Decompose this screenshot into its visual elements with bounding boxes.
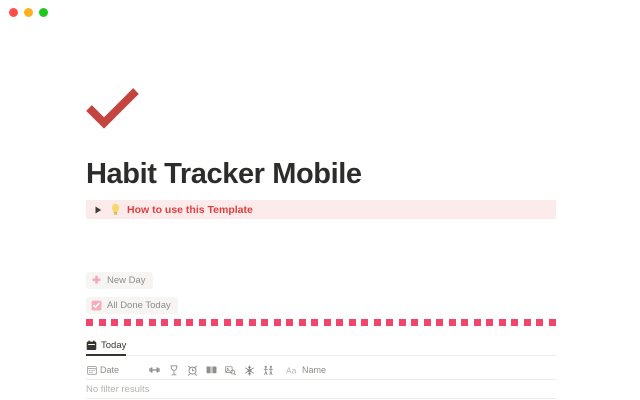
- divider-dot: [324, 319, 331, 326]
- column-open-book[interactable]: [206, 361, 225, 379]
- new-day-button[interactable]: New Day: [86, 272, 153, 289]
- database-view-tabs: Today: [86, 336, 556, 356]
- divider-dot: [336, 319, 343, 326]
- column-name-label: Name: [302, 365, 326, 375]
- divider-dot: [136, 319, 143, 326]
- divider-dot: [386, 319, 393, 326]
- column-photo-search[interactable]: [225, 361, 244, 379]
- divider-dot: [524, 319, 531, 326]
- divider-dot: [286, 319, 293, 326]
- divider-dot: [374, 319, 381, 326]
- divider-dot: [199, 319, 206, 326]
- column-snowflake[interactable]: [244, 361, 263, 379]
- lightbulb-emoji-icon: [108, 203, 123, 216]
- column-wine-glass[interactable]: [168, 361, 187, 379]
- divider-dot: [124, 319, 131, 326]
- divider-dot: [261, 319, 268, 326]
- plus-icon: [91, 275, 102, 286]
- divider-dot: [461, 319, 468, 326]
- divider-dot: [549, 319, 556, 326]
- calendar-icon: [86, 340, 97, 351]
- divider-dot: [299, 319, 306, 326]
- divider-dot: [449, 319, 456, 326]
- page-content: Habit Tracker Mobile How to use this Tem…: [0, 26, 640, 400]
- photo-search-icon: [225, 365, 236, 376]
- column-date-label: Date: [100, 365, 119, 375]
- page-icon-checkmark-icon[interactable]: [86, 88, 140, 130]
- open-book-icon: [206, 365, 217, 376]
- divider-dot: [149, 319, 156, 326]
- divider-dot: [86, 319, 93, 326]
- window-traffic-lights: [9, 8, 48, 17]
- divider-dot: [411, 319, 418, 326]
- column-dumbbell[interactable]: [149, 361, 168, 379]
- svg-text:Aa: Aa: [286, 366, 297, 375]
- column-alarm-clock[interactable]: [187, 361, 206, 379]
- maximize-window-icon[interactable]: [39, 8, 48, 17]
- divider-dot: [499, 319, 506, 326]
- text-aa-icon: Aa: [286, 365, 299, 376]
- triangle-right-icon[interactable]: [90, 206, 106, 214]
- alarm-clock-icon: [187, 365, 198, 376]
- divider-dot: [399, 319, 406, 326]
- no-filter-results-label: No filter results: [86, 384, 149, 395]
- tab-today-label: Today: [101, 340, 126, 351]
- column-people-walking[interactable]: [263, 361, 282, 379]
- all-done-today-label: All Done Today: [107, 300, 171, 311]
- database-empty-state: No filter results: [86, 380, 556, 399]
- dotted-divider: [86, 318, 556, 326]
- divider-dot: [224, 319, 231, 326]
- divider-dot: [486, 319, 493, 326]
- minimize-window-icon[interactable]: [24, 8, 33, 17]
- window-titlebar: [0, 0, 640, 26]
- wine-glass-icon: [168, 365, 179, 376]
- database-column-headers: Date: [86, 361, 556, 380]
- divider-dot: [474, 319, 481, 326]
- divider-dot: [361, 319, 368, 326]
- snowflake-icon: [244, 365, 255, 376]
- app-window: Habit Tracker Mobile How to use this Tem…: [0, 0, 640, 400]
- column-name[interactable]: Aa Name: [286, 361, 326, 379]
- tab-today[interactable]: Today: [86, 336, 134, 355]
- page-title: Habit Tracker Mobile: [86, 158, 362, 191]
- divider-dot: [274, 319, 281, 326]
- people-walking-icon: [263, 365, 274, 376]
- new-day-label: New Day: [107, 275, 146, 286]
- divider-dot: [236, 319, 243, 326]
- database-view: Today: [86, 336, 556, 399]
- divider-dot: [436, 319, 443, 326]
- how-to-use-template-callout[interactable]: How to use this Template: [86, 200, 556, 219]
- all-done-today-button[interactable]: All Done Today: [86, 297, 178, 314]
- dumbbell-icon: [149, 365, 160, 376]
- divider-dot: [186, 319, 193, 326]
- divider-dot: [161, 319, 168, 326]
- divider-dot: [349, 319, 356, 326]
- divider-dot: [99, 319, 106, 326]
- divider-dot: [424, 319, 431, 326]
- divider-dot: [536, 319, 543, 326]
- divider-dot: [311, 319, 318, 326]
- divider-dot: [111, 319, 118, 326]
- callout-label: How to use this Template: [127, 204, 253, 216]
- column-date[interactable]: Date: [86, 361, 149, 379]
- calendar-date-icon: [86, 365, 97, 376]
- divider-dot: [249, 319, 256, 326]
- checkbox-checked-icon: [91, 300, 102, 311]
- divider-dot: [211, 319, 218, 326]
- divider-dot: [174, 319, 181, 326]
- close-window-icon[interactable]: [9, 8, 18, 17]
- divider-dot: [511, 319, 518, 326]
